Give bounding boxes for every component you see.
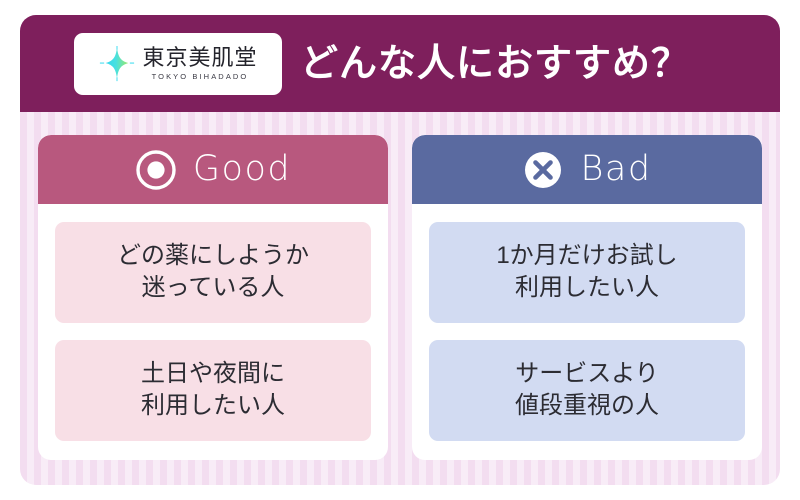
list-item-line2: 利用したい人	[496, 272, 677, 304]
bad-column: Bad 1か月だけお試し 利用したい人 サービスより 値段重視の人	[412, 135, 762, 460]
page-title: どんな人におすすめ？	[300, 45, 690, 83]
bad-column-body: 1か月だけお試し 利用したい人 サービスより 値段重視の人	[412, 204, 762, 460]
list-item-line2: 利用したい人	[141, 390, 285, 422]
good-column-body: どの薬にしようか 迷っている人 土日や夜間に 利用したい人	[38, 204, 388, 460]
list-item-line1: 土日や夜間に	[141, 358, 285, 390]
header-bar: 東京美肌堂 TOKYO BIHADADO どんな人におすすめ？	[20, 15, 780, 112]
list-item: 1か月だけお試し 利用したい人	[429, 222, 745, 323]
list-item-line1: 1か月だけお試し	[496, 240, 677, 272]
bad-column-header: Bad	[412, 135, 762, 204]
circle-target-icon	[135, 149, 177, 191]
list-item: サービスより 値段重視の人	[429, 340, 745, 441]
bad-column-label: Bad	[580, 152, 651, 187]
brand-name-en: TOKYO BIHADADO	[152, 72, 249, 81]
brand-logo: 東京美肌堂 TOKYO BIHADADO	[74, 33, 282, 95]
circle-x-icon	[522, 149, 564, 191]
sparkle-4-point-icon	[98, 45, 136, 83]
list-item-line2: 迷っている人	[117, 272, 309, 304]
comparison-columns: Good どの薬にしようか 迷っている人 土日や夜間に 利用したい人	[20, 112, 780, 485]
infographic-card: 東京美肌堂 TOKYO BIHADADO どんな人におすすめ？ Good どの薬…	[20, 15, 780, 485]
list-item: どの薬にしようか 迷っている人	[55, 222, 371, 323]
list-item-line1: サービスより	[515, 358, 659, 390]
list-item-line1: どの薬にしようか	[117, 240, 309, 272]
good-column-label: Good	[193, 152, 291, 187]
good-column-header: Good	[38, 135, 388, 204]
brand-name-jp: 東京美肌堂	[142, 46, 257, 69]
good-column: Good どの薬にしようか 迷っている人 土日や夜間に 利用したい人	[38, 135, 388, 460]
list-item: 土日や夜間に 利用したい人	[55, 340, 371, 441]
list-item-line2: 値段重視の人	[515, 390, 659, 422]
